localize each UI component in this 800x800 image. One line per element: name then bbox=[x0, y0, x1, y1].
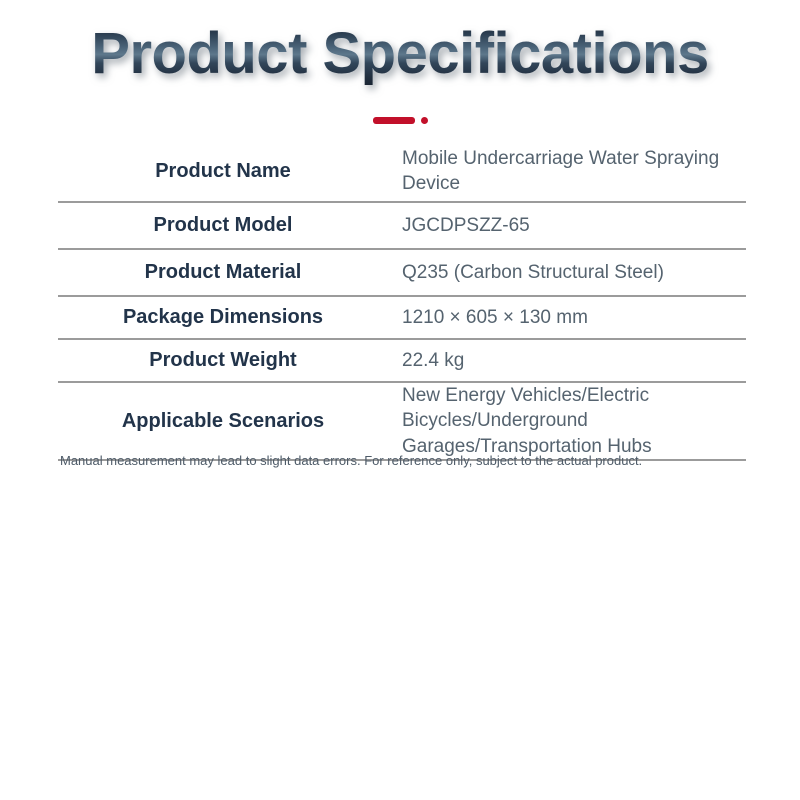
specification-table: Product Name Mobile Undercarriage Water … bbox=[58, 141, 746, 461]
disclaimer-note: Manual measurement may lead to slight da… bbox=[60, 453, 760, 468]
title-underline-decoration bbox=[0, 114, 800, 126]
page-title-wrapper: Product Specifications bbox=[0, 24, 800, 85]
underline-dot bbox=[421, 117, 428, 124]
spec-value: Q235 (Carbon Structural Steel) bbox=[388, 260, 746, 285]
table-row: Product Material Q235 (Carbon Structural… bbox=[58, 250, 746, 297]
table-row: Product Model JGCDPSZZ-65 bbox=[58, 203, 746, 250]
product-specifications-page: Product Specifications Product Name Mobi… bbox=[0, 0, 800, 800]
table-row: Applicable Scenarios New Energy Vehicles… bbox=[58, 383, 746, 461]
spec-label: Package Dimensions bbox=[58, 306, 388, 329]
underline-bar bbox=[373, 117, 415, 124]
spec-value: JGCDPSZZ-65 bbox=[388, 213, 746, 238]
spec-label: Product Name bbox=[58, 160, 388, 183]
spec-label: Product Weight bbox=[58, 349, 388, 372]
spec-label: Applicable Scenarios bbox=[58, 410, 388, 433]
table-row: Product Weight 22.4 kg bbox=[58, 340, 746, 383]
spec-value: New Energy Vehicles/Electric Bicycles/Un… bbox=[388, 383, 746, 458]
spec-label: Product Model bbox=[58, 214, 388, 237]
page-title: Product Specifications bbox=[91, 24, 708, 85]
spec-label: Product Material bbox=[58, 261, 388, 284]
table-row: Product Name Mobile Undercarriage Water … bbox=[58, 141, 746, 203]
spec-value: 22.4 kg bbox=[388, 348, 746, 373]
spec-value: 1210 × 605 × 130 mm bbox=[388, 305, 746, 330]
product-photo: 1200mm 400mm 500mm bbox=[0, 478, 800, 800]
spec-value: Mobile Undercarriage Water Spraying Devi… bbox=[388, 146, 746, 196]
table-row: Package Dimensions 1210 × 605 × 130 mm bbox=[58, 297, 746, 340]
